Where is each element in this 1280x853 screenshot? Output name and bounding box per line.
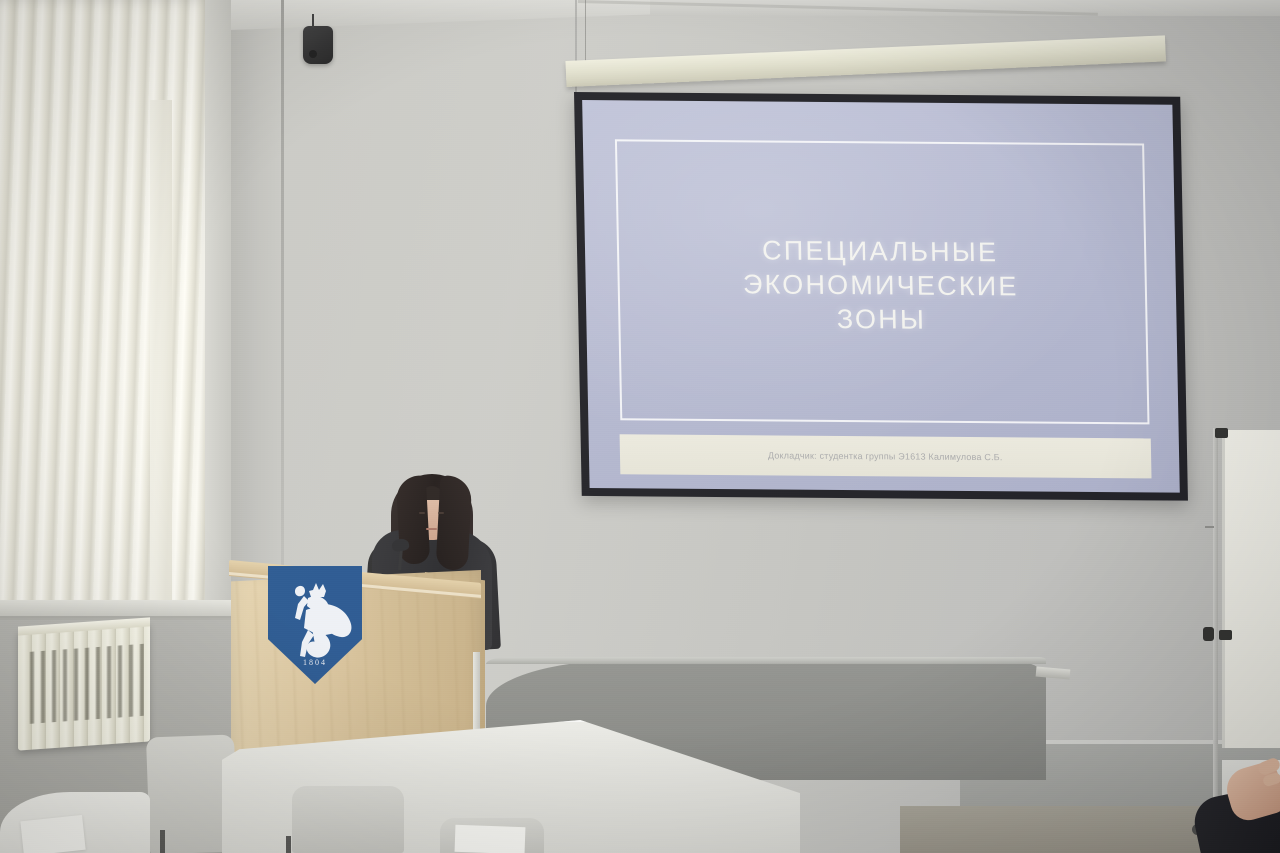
chair-leg — [286, 836, 291, 853]
projected-slide: СПЕЦИАЛЬНЫЕ ЭКОНОМИЧЕСКИЕ ЗОНЫ Докладчик… — [582, 100, 1180, 493]
blind-slat-highlight — [150, 100, 172, 620]
presenter-eye-left — [419, 512, 425, 514]
paper-sheet[interactable] — [455, 825, 526, 853]
flipchart-clip-top — [1215, 428, 1228, 438]
window-reveal — [205, 0, 231, 600]
wall-mounted-speaker-icon — [303, 26, 333, 64]
slide-footer-band: Докладчик: студентка группы Э1613 Калиму… — [619, 434, 1151, 479]
slide-title-line-3: ЗОНЫ — [633, 301, 1129, 339]
chair[interactable] — [292, 786, 404, 853]
presenter-eye-right — [438, 512, 444, 514]
presenter-hair-right — [436, 475, 473, 571]
paper-sheet[interactable] — [20, 815, 85, 853]
vertical-blinds[interactable] — [0, 0, 212, 614]
slide-footer-text: Докладчик: студентка группы Э1613 Калиму… — [620, 449, 1151, 463]
presentation-photo-scene: СПЕЦИАЛЬНЫЕ ЭКОНОМИЧЕСКИЕ ЗОНЫ Докладчик… — [0, 0, 1280, 853]
chair-leg — [160, 830, 165, 853]
presenter-mouth — [426, 528, 437, 530]
slide-title: СПЕЦИАЛЬНЫЕ ЭКОНОМИЧЕСКИЕ ЗОНЫ — [632, 232, 1130, 339]
flipchart-clip-middle — [1219, 630, 1232, 640]
slide-title-line-1: СПЕЦИАЛЬНЫЕ — [632, 232, 1128, 270]
partition-top-rail — [486, 657, 1046, 664]
flipchart-knob[interactable] — [1203, 627, 1214, 641]
flipchart-whiteboard[interactable] — [1222, 430, 1280, 748]
radiator-fins — [24, 644, 144, 724]
flipchart-height-tick — [1205, 526, 1214, 528]
projection-screen: СПЕЦИАЛЬНЫЕ ЭКОНОМИЧЕСКИЕ ЗОНЫ Докладчик… — [574, 92, 1188, 501]
wall-corner — [281, 0, 284, 640]
slide-title-line-2: ЭКОНОМИЧЕСКИЕ — [633, 267, 1129, 305]
speaker-mount-bracket — [312, 14, 314, 28]
